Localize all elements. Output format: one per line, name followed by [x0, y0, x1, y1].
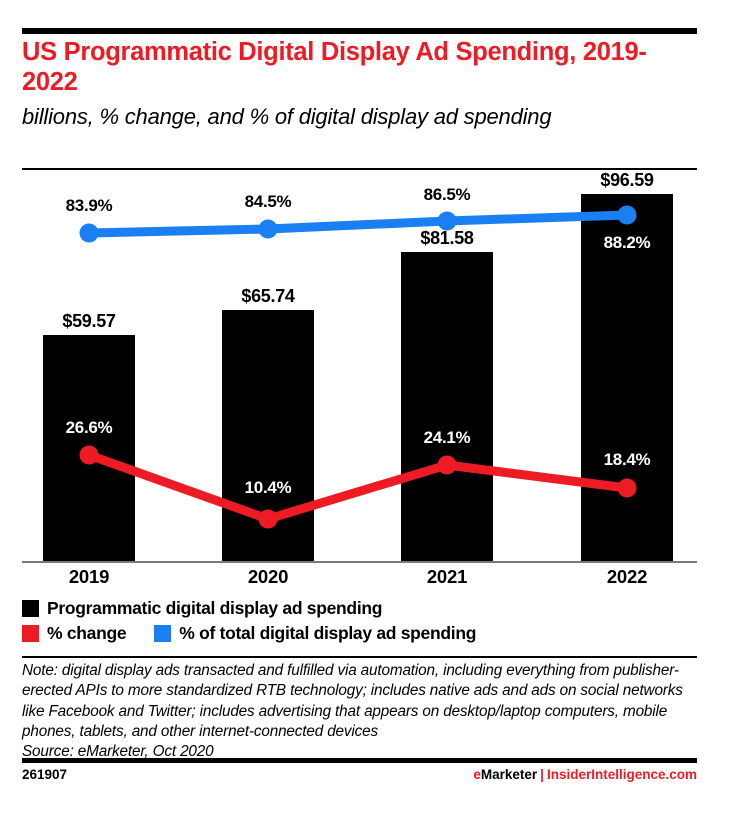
legend-label-change: % change	[47, 623, 126, 644]
legend-swatch-red-icon	[22, 625, 39, 642]
footer-brand: eMarketer|InsiderIntelligence.com	[473, 767, 697, 782]
legend-divider	[22, 656, 697, 658]
brand-e-mark: e	[473, 767, 481, 782]
legend-swatch-blue-icon	[154, 625, 171, 642]
x-tick-2020: 2020	[208, 566, 328, 588]
red-line-series	[89, 455, 627, 519]
note-block: Note: digital display ads transacted and…	[22, 661, 688, 763]
legend-row-1: Programmatic digital display ad spending	[22, 596, 476, 621]
x-tick-2019: 2019	[29, 566, 149, 588]
footer-rule	[22, 758, 697, 763]
legend-item-share[interactable]: % of total digital display ad spending	[154, 623, 476, 644]
red-label-2019: 26.6%	[29, 418, 149, 438]
blue-label-2019: 83.9%	[29, 196, 149, 216]
legend-row-2: % change % of total digital display ad s…	[22, 621, 476, 646]
chart-card: US Programmatic Digital Display Ad Spend…	[0, 0, 736, 818]
legend-label-share: % of total digital display ad spending	[179, 623, 476, 644]
chart-legend: Programmatic digital display ad spending…	[22, 596, 476, 646]
x-axis-line	[22, 561, 697, 563]
brand-name: Marketer	[481, 767, 537, 782]
footer-chart-id: 261907	[22, 767, 67, 782]
legend-item-change[interactable]: % change	[22, 623, 126, 644]
red-label-2020: 10.4%	[208, 478, 328, 498]
note-text: Note: digital display ads transacted and…	[22, 661, 688, 742]
blue-label-2021: 86.5%	[387, 185, 507, 205]
legend-label-spending: Programmatic digital display ad spending	[47, 598, 382, 619]
blue-line-series	[89, 215, 627, 233]
red-label-2022: 18.4%	[567, 450, 687, 470]
legend-item-spending[interactable]: Programmatic digital display ad spending	[22, 598, 382, 619]
red-label-2021: 24.1%	[387, 428, 507, 448]
x-tick-2021: 2021	[387, 566, 507, 588]
legend-swatch-black-icon	[22, 600, 39, 617]
blue-label-2020: 84.5%	[208, 192, 328, 212]
blue-label-2022: 88.2%	[567, 233, 687, 253]
red-data-points	[80, 446, 637, 529]
brand-site-link[interactable]: InsiderIntelligence.com	[547, 767, 697, 782]
x-tick-2022: 2022	[567, 566, 687, 588]
brand-separator: |	[537, 767, 547, 782]
